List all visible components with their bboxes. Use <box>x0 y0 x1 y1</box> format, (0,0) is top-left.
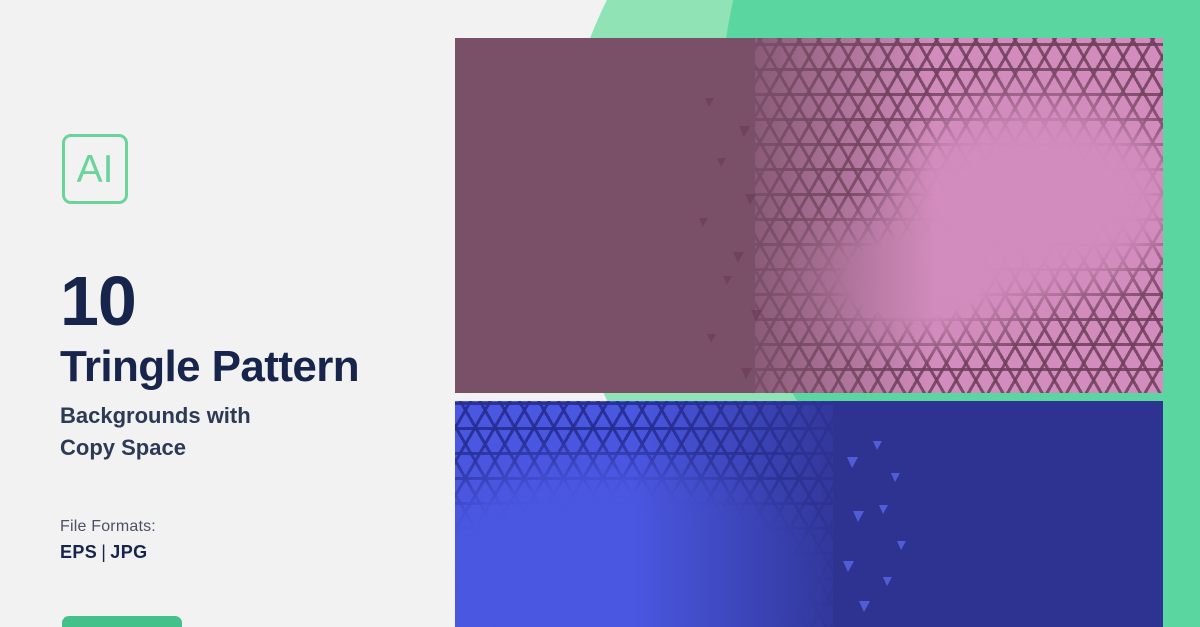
promo-banner: AI 10 Tringle Pattern Backgrounds with C… <box>0 0 1200 627</box>
preview-panel-blue[interactable] <box>455 401 1163 627</box>
format-eps: EPS <box>60 542 97 562</box>
navy-solid-block <box>833 401 1163 627</box>
ai-badge: AI <box>62 134 128 204</box>
info-column: AI 10 Tringle Pattern Backgrounds with C… <box>0 0 455 627</box>
format-jpg: JPG <box>110 542 147 562</box>
page-title: Tringle Pattern <box>60 344 359 390</box>
navy-gradient-fade <box>633 401 863 627</box>
format-separator: | <box>97 542 110 562</box>
mauve-solid-block <box>455 38 755 393</box>
file-formats-label: File Formats: <box>60 518 156 536</box>
page-subtitle: Backgrounds with Copy Space <box>60 400 440 464</box>
preview-panel-mauve[interactable] <box>455 38 1163 393</box>
page-subtitle-line-2: Copy Space <box>60 432 440 464</box>
item-count: 10 <box>60 266 136 336</box>
cta-button[interactable] <box>62 616 182 627</box>
page-subtitle-line-1: Backgrounds with <box>60 400 440 432</box>
ai-badge-label: AI <box>77 150 114 189</box>
file-formats-value: EPS|JPG <box>60 542 148 563</box>
